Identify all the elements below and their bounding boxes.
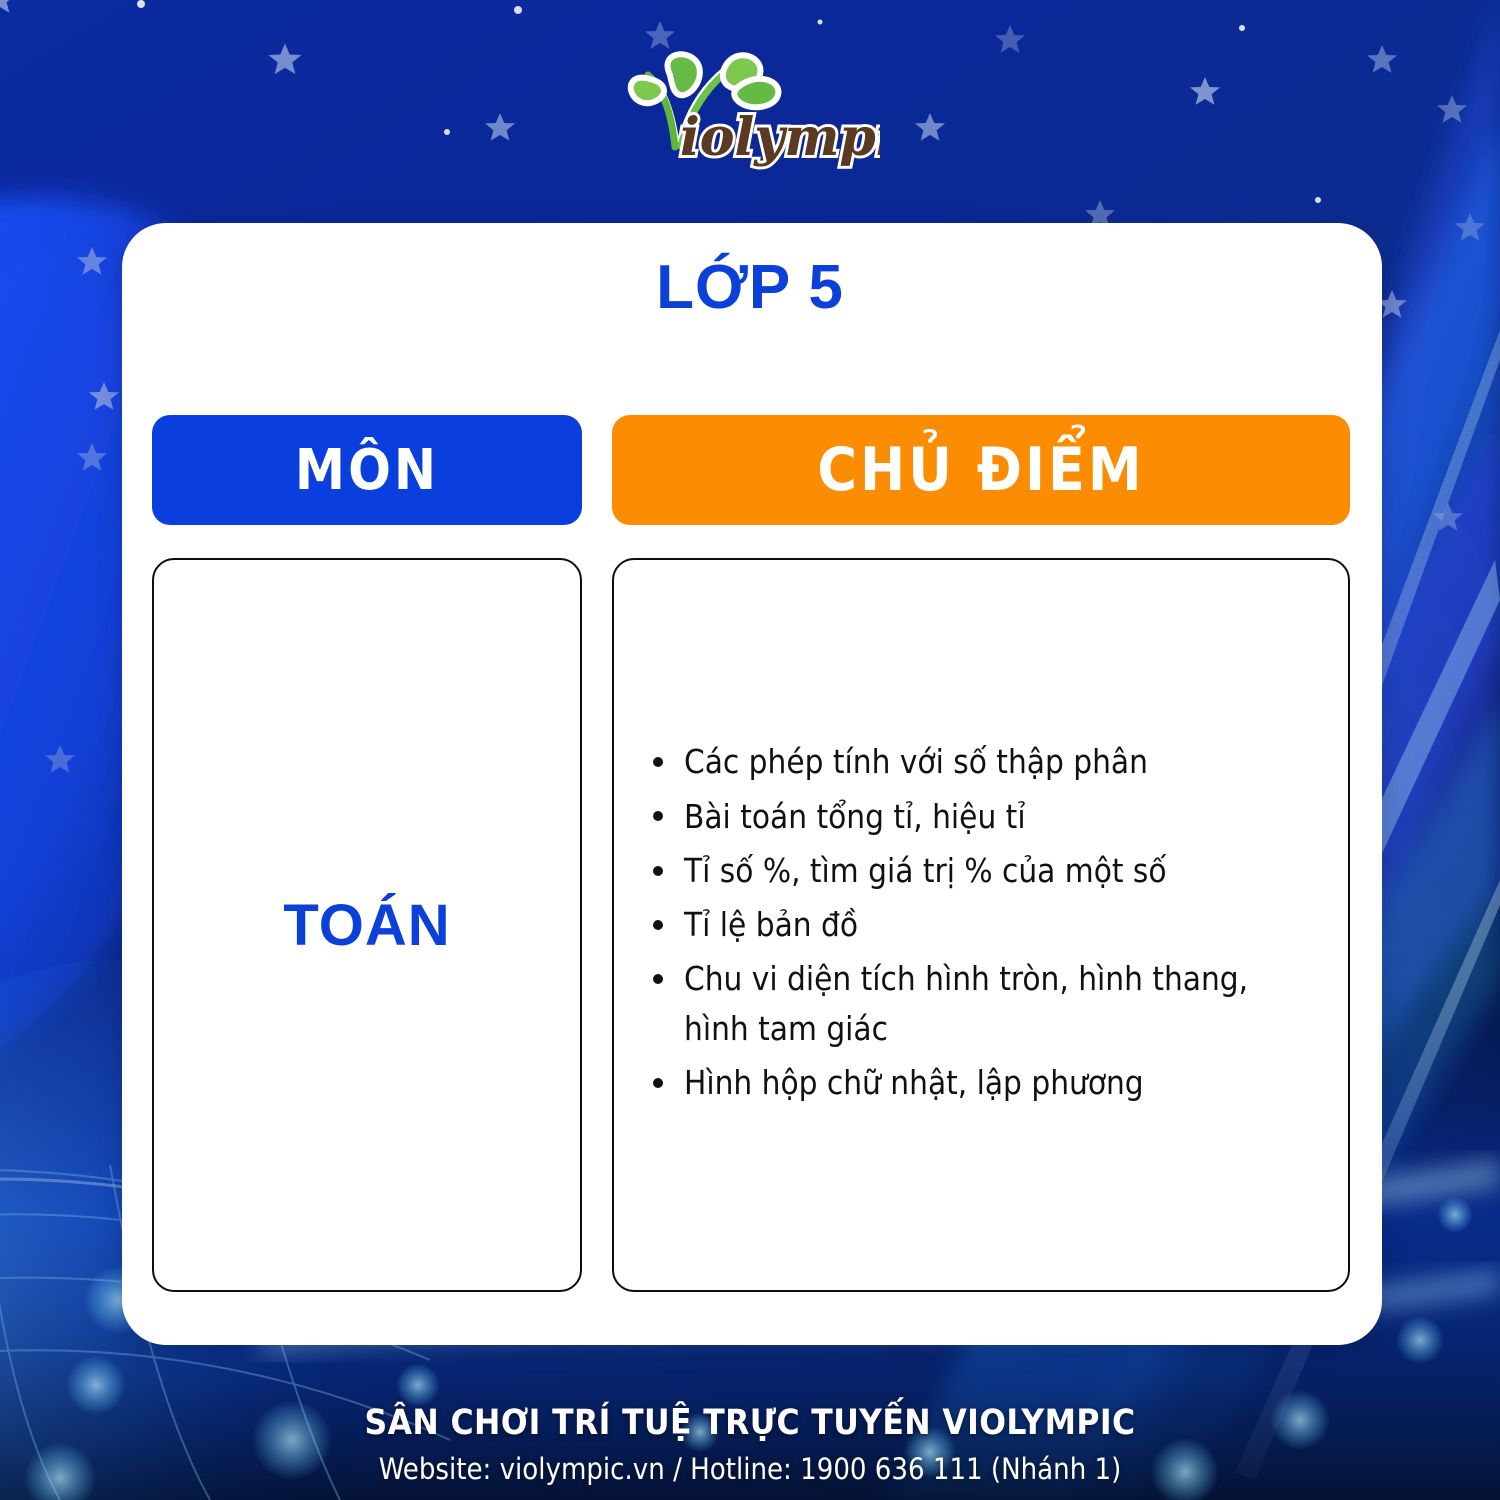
list-item: Hình hộp chữ nhật, lập phương bbox=[650, 1058, 1322, 1108]
list-item: Tỉ số %, tìm giá trị % của một số bbox=[650, 846, 1322, 896]
bullet-icon bbox=[653, 974, 663, 984]
topic-text: Hình hộp chữ nhật, lập phương bbox=[684, 1063, 1144, 1102]
footer: SÂN CHƠI TRÍ TUỆ TRỰC TUYẾN VIOLYMPIC We… bbox=[0, 1403, 1500, 1486]
bullet-icon bbox=[653, 1078, 663, 1088]
violympic-logo: iolympic iolympic bbox=[0, 44, 1500, 174]
svg-text:iolympic: iolympic bbox=[680, 107, 880, 168]
topic-text: Tỉ lệ bản đồ bbox=[684, 905, 858, 944]
topics-box: Các phép tính với số thập phân Bài toán … bbox=[612, 558, 1350, 1292]
topic-text: Chu vi diện tích hình tròn, hình thang, … bbox=[684, 959, 1248, 1048]
topic-text: Tỉ số %, tìm giá trị % của một số bbox=[684, 851, 1167, 890]
column-header-topic: CHỦ ĐIỂM bbox=[612, 415, 1350, 525]
column-header-subject: MÔN bbox=[152, 415, 582, 525]
list-item: Các phép tính với số thập phân bbox=[650, 737, 1322, 787]
topic-text: Bài toán tổng tỉ, hiệu tỉ bbox=[684, 797, 1026, 836]
footer-tagline: SÂN CHƠI TRÍ TUỆ TRỰC TUYẾN VIOLYMPIC bbox=[0, 1403, 1500, 1443]
list-item: Chu vi diện tích hình tròn, hình thang, … bbox=[650, 954, 1322, 1054]
bullet-icon bbox=[653, 920, 663, 930]
topic-text: Các phép tính với số thập phân bbox=[684, 742, 1148, 781]
footer-contact: Website: violympic.vn / Hotline: 1900 63… bbox=[0, 1452, 1500, 1486]
page-title: LỚP 5 bbox=[0, 252, 1500, 323]
bullet-icon bbox=[653, 811, 663, 821]
list-item: Tỉ lệ bản đồ bbox=[650, 900, 1322, 950]
list-item: Bài toán tổng tỉ, hiệu tỉ bbox=[650, 792, 1322, 842]
subject-name: TOÁN bbox=[283, 892, 450, 959]
subject-box: TOÁN bbox=[152, 558, 582, 1292]
bullet-icon bbox=[653, 866, 663, 876]
topic-list: Các phép tính với số thập phân Bài toán … bbox=[614, 737, 1348, 1112]
bullet-icon bbox=[653, 757, 663, 767]
